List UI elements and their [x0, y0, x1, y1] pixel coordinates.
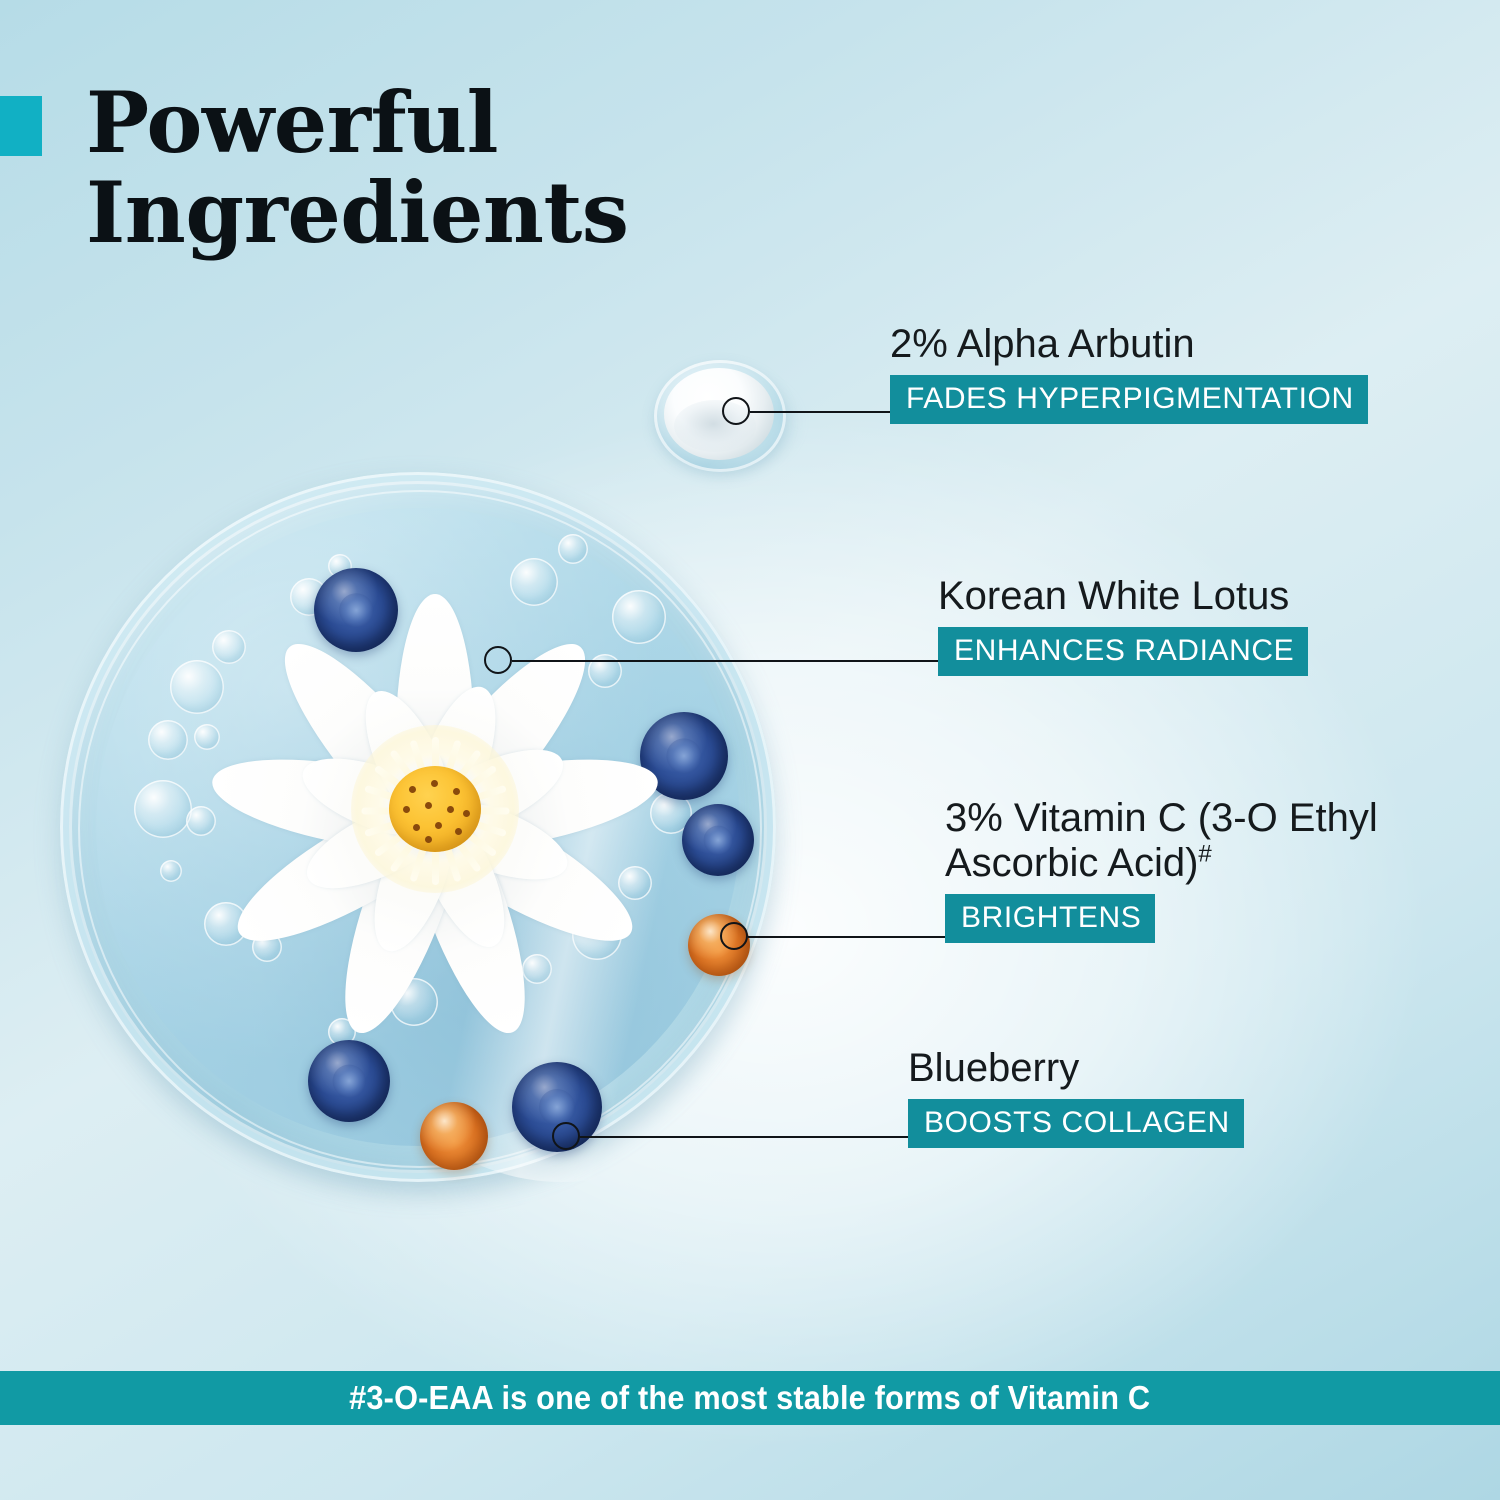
callout-badge-vitamin-c: BRIGHTENS — [945, 894, 1155, 943]
page-title: Powerful Ingredients — [86, 78, 866, 258]
callout-vitamin-c: 3% Vitamin C (3-O Ethyl Ascorbic Acid)# … — [945, 796, 1475, 943]
callout-title-alpha-arbutin: 2% Alpha Arbutin — [890, 322, 1368, 367]
footer-note-bar: #3-O-EAA is one of the most stable forms… — [0, 1371, 1500, 1425]
callout-title-vitamin-c-line-2: Ascorbic Acid) — [945, 841, 1198, 885]
blueberry — [682, 804, 754, 876]
leader-line-alpha-arbutin — [750, 411, 890, 413]
callout-title-vitamin-c-superscript: # — [1198, 840, 1211, 867]
blueberry-crown — [539, 1089, 575, 1125]
marker-ring-vitamin-c — [720, 922, 748, 950]
footer-note-text: #3-O-EAA is one of the most stable forms… — [349, 1379, 1150, 1417]
callout-title-korean-white-lotus: Korean White Lotus — [938, 574, 1308, 619]
blueberry-crown — [333, 1065, 366, 1098]
orange-serum-droplet — [420, 1102, 488, 1170]
callout-badge-korean-white-lotus: ENHANCES RADIANCE — [938, 627, 1308, 676]
blueberry-crown — [704, 826, 733, 855]
bubble — [558, 534, 588, 564]
lotus-seed-pod — [389, 766, 481, 852]
callout-alpha-arbutin: 2% Alpha Arbutin FADES HYPERPIGMENTATION — [890, 322, 1368, 424]
leader-line-korean-white-lotus — [512, 660, 938, 662]
infographic-canvas: Powerful Ingredients — [0, 0, 1500, 1500]
marker-ring-blueberry — [552, 1122, 580, 1150]
callout-title-vitamin-c-line-1: 3% Vitamin C (3-O Ethyl — [945, 796, 1378, 840]
blueberry — [308, 1040, 390, 1122]
callout-title-blueberry: Blueberry — [908, 1046, 1244, 1091]
title-accent-bar — [0, 96, 42, 156]
callout-badge-alpha-arbutin: FADES HYPERPIGMENTATION — [890, 375, 1368, 424]
blueberry-crown — [666, 738, 701, 773]
leader-line-blueberry — [580, 1136, 908, 1138]
callout-title-vitamin-c: 3% Vitamin C (3-O Ethyl Ascorbic Acid)# — [945, 796, 1475, 886]
page-title-line-1: Powerful — [86, 73, 498, 172]
bubble — [148, 720, 188, 760]
bubble — [160, 860, 182, 882]
leader-line-vitamin-c — [748, 936, 945, 938]
marker-ring-korean-white-lotus — [484, 646, 512, 674]
page-title-line-2: Ingredients — [86, 168, 866, 258]
callout-blueberry: Blueberry BOOSTS COLLAGEN — [908, 1046, 1244, 1148]
marker-ring-alpha-arbutin — [722, 397, 750, 425]
callout-korean-white-lotus: Korean White Lotus ENHANCES RADIANCE — [938, 574, 1308, 676]
bubble — [134, 780, 192, 838]
white-lotus-flower — [200, 574, 670, 1044]
petri-dish-with-lotus — [52, 462, 792, 1210]
callout-badge-blueberry: BOOSTS COLLAGEN — [908, 1099, 1244, 1148]
